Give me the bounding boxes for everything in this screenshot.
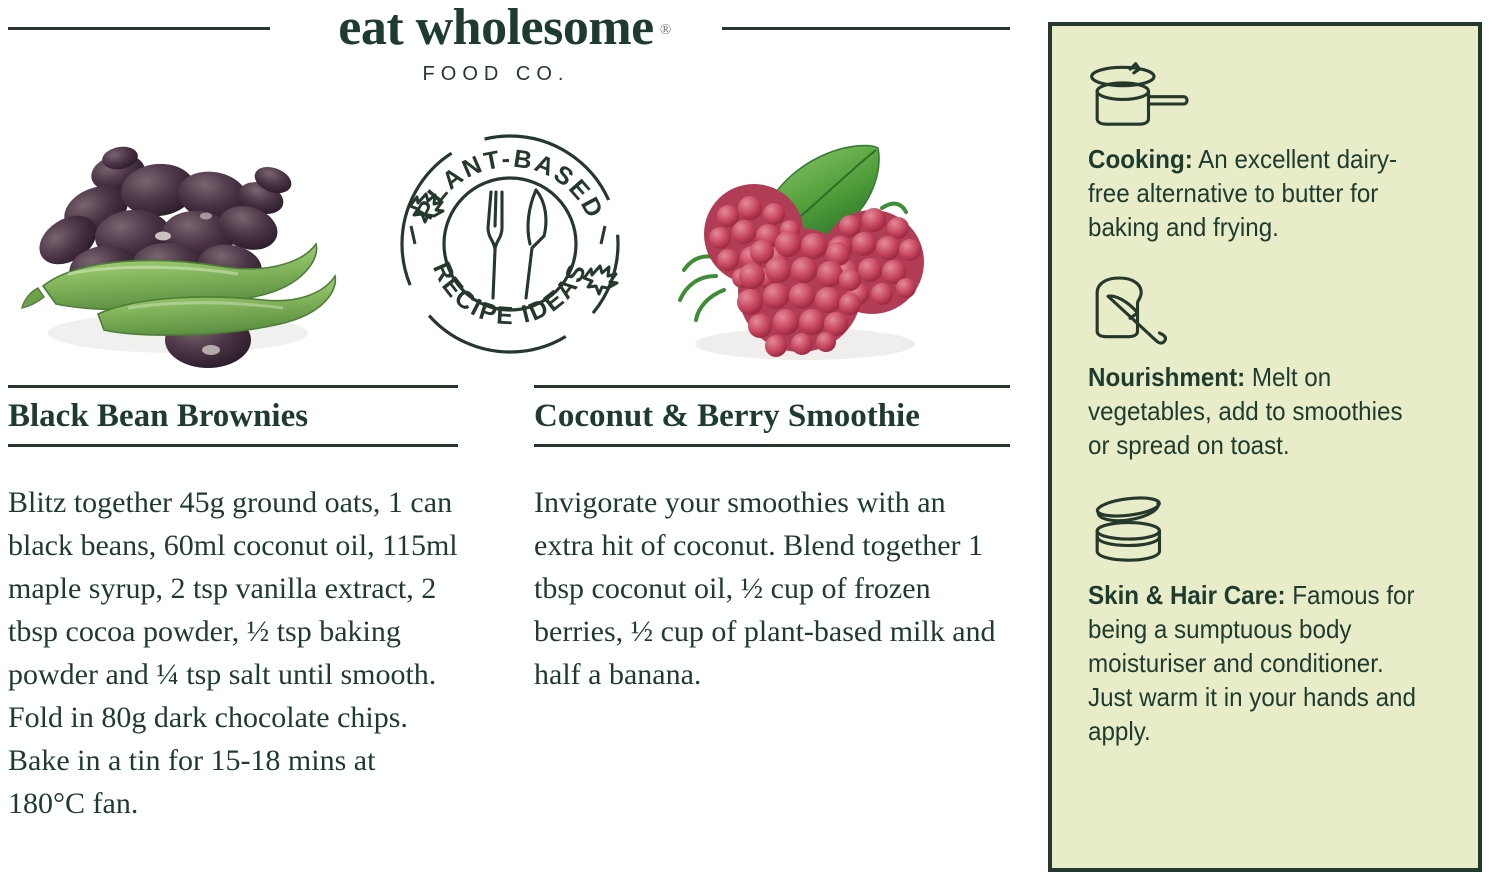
use-label: Nourishment: — [1088, 362, 1245, 392]
use-description: Skin & Hair Care: Famous for being a sum… — [1088, 578, 1430, 748]
bread-knife-icon — [1088, 274, 1456, 352]
use-description: Nourishment: Melt on vegetables, add to … — [1088, 360, 1430, 462]
brand-name-text: eat wholesome — [338, 0, 654, 56]
raspberries-illustration — [650, 112, 950, 370]
recipe-body: Invigorate your smoothies with an extra … — [534, 481, 1010, 696]
recipe-rule-bottom — [8, 444, 458, 447]
fork-knife-icon — [488, 190, 546, 298]
brand-header: eat wholesome ® FOOD CO. — [0, 0, 1020, 108]
header-rule-left — [8, 27, 270, 30]
use-description: Cooking: An excellent dairy-free alterna… — [1088, 142, 1430, 244]
recipe-coconut-berry-smoothie: Coconut & Berry Smoothie Invigorate your… — [534, 385, 1010, 696]
cosmetic-jar-icon — [1088, 492, 1456, 570]
saucepan-icon — [1088, 56, 1456, 134]
uses-list: Cooking: An excellent dairy-free alterna… — [1088, 56, 1456, 748]
badge-bottom-label: RECIPE IDEAS — [427, 258, 593, 331]
recipe-title: Coconut & Berry Smoothie — [534, 388, 1010, 444]
illustration-row: PLANT-BASED RECIPE IDEAS — [0, 108, 1020, 378]
header-rule-right — [722, 27, 1010, 30]
brand-tagline: FOOD CO. — [270, 63, 722, 86]
brand-logo: eat wholesome ® FOOD CO. — [270, 0, 722, 86]
use-label: Cooking: — [1088, 144, 1193, 174]
black-beans-illustration — [8, 118, 348, 368]
use-item-nourishment: Nourishment: Melt on vegetables, add to … — [1088, 274, 1456, 462]
brand-name: eat wholesome ® — [338, 0, 654, 56]
plant-based-recipe-ideas-badge: PLANT-BASED RECIPE IDEAS — [392, 116, 628, 366]
uses-sidebar-panel: Cooking: An excellent dairy-free alterna… — [1048, 22, 1482, 872]
registered-trademark-icon: ® — [660, 2, 671, 58]
main-panel: eat wholesome ® FOOD CO. — [0, 0, 1020, 894]
use-item-skin-hair-care: Skin & Hair Care: Famous for being a sum… — [1088, 492, 1456, 748]
use-label: Skin & Hair Care: — [1088, 580, 1286, 610]
recipe-body: Blitz together 45g ground oats, 1 can bl… — [8, 481, 458, 825]
recipe-black-bean-brownies: Black Bean Brownies Blitz together 45g g… — [8, 385, 458, 825]
use-item-cooking: Cooking: An excellent dairy-free alterna… — [1088, 56, 1456, 244]
recipe-rule-bottom — [534, 444, 1010, 447]
recipe-title: Black Bean Brownies — [8, 388, 458, 444]
